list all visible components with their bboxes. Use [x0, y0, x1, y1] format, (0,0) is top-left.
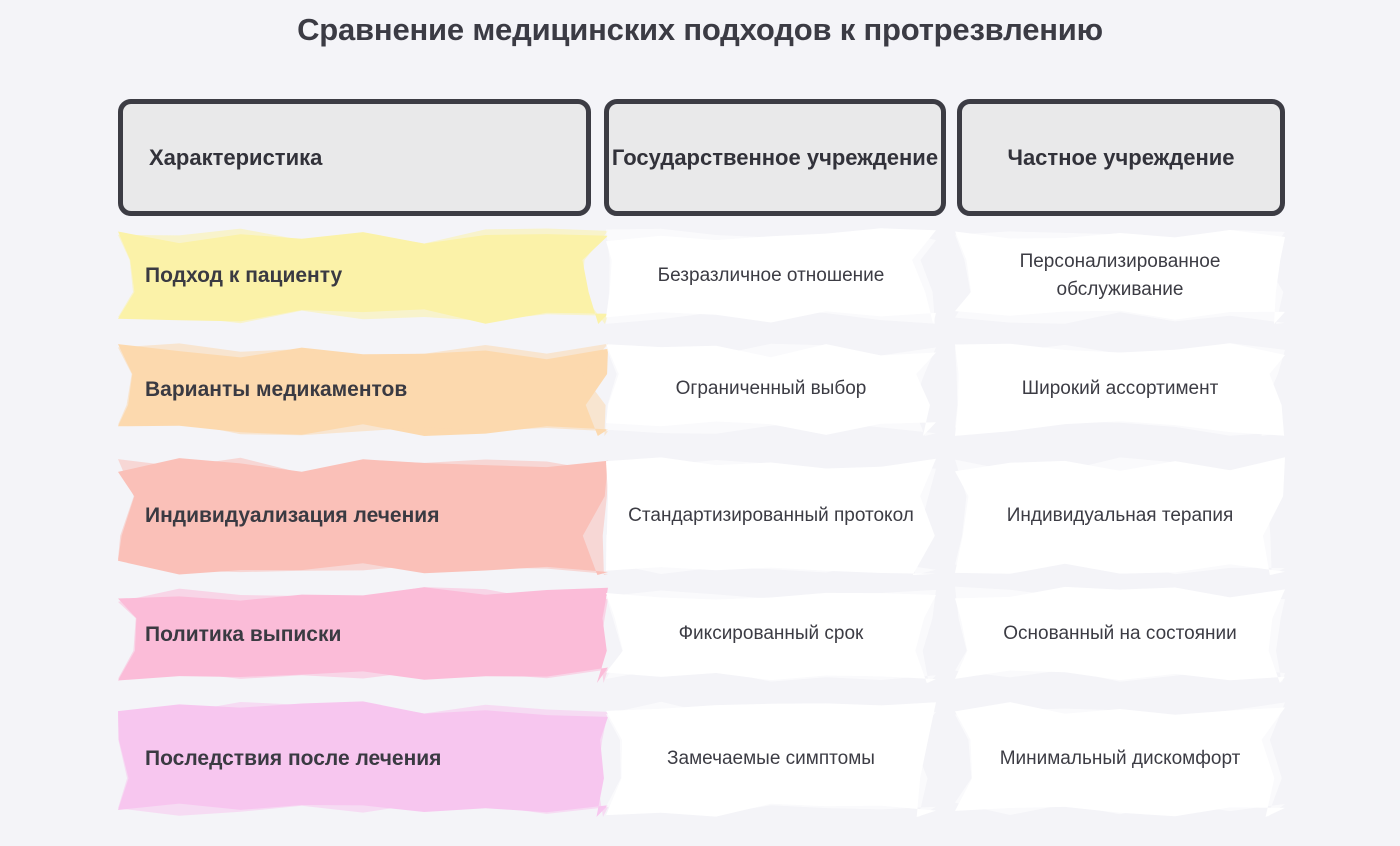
row-feature-label: Индивидуализация лечения: [118, 501, 608, 531]
row-private-value: Основанный на состоянии: [955, 620, 1285, 648]
row-feature-cell: Индивидуализация лечения: [118, 457, 608, 575]
table-row: Подход к пациентуБезразличное отношениеП…: [0, 228, 1400, 324]
row-private-cell: Минимальный дискомфорт: [955, 701, 1285, 817]
row-private-value: Индивидуальная терапия: [955, 502, 1285, 530]
row-feature-cell: Политика выписки: [118, 586, 608, 683]
row-public-cell: Безразличное отношение: [606, 228, 936, 324]
row-public-value: Фиксированный срок: [606, 620, 936, 648]
row-public-cell: Стандартизированный протокол: [606, 457, 936, 575]
row-feature-cell: Подход к пациенту: [118, 228, 608, 324]
row-private-value: Широкий ассортимент: [955, 375, 1285, 403]
row-public-value: Ограниченный выбор: [606, 375, 936, 403]
row-private-cell: Индивидуальная терапия: [955, 457, 1285, 575]
table-row: Варианты медикаментовОграниченный выборШ…: [0, 343, 1400, 436]
row-public-cell: Ограниченный выбор: [606, 343, 936, 436]
column-header-private: Частное учреждение: [957, 99, 1285, 216]
column-header-private-label: Частное учреждение: [1007, 143, 1234, 173]
table-row: Последствия после леченияЗамечаемые симп…: [0, 701, 1400, 817]
row-public-value: Замечаемые симптомы: [606, 745, 936, 773]
row-private-cell: Широкий ассортимент: [955, 343, 1285, 436]
column-header-public: Государственное учреждение: [604, 99, 946, 216]
row-feature-label: Варианты медикаментов: [118, 375, 608, 405]
comparison-table: Характеристика Государственное учреждени…: [0, 0, 1400, 846]
table-row: Индивидуализация леченияСтандартизирован…: [0, 457, 1400, 575]
row-feature-label: Последствия после лечения: [118, 744, 608, 774]
row-feature-cell: Последствия после лечения: [118, 701, 608, 817]
row-feature-label: Политика выписки: [118, 620, 608, 650]
row-private-cell: Основанный на состоянии: [955, 586, 1285, 683]
row-private-value: Минимальный дискомфорт: [955, 745, 1285, 773]
column-header-public-label: Государственное учреждение: [612, 143, 938, 173]
row-feature-label: Подход к пациенту: [118, 261, 608, 291]
row-public-cell: Фиксированный срок: [606, 586, 936, 683]
column-header-feature: Характеристика: [118, 99, 591, 216]
row-public-cell: Замечаемые симптомы: [606, 701, 936, 817]
column-header-feature-label: Характеристика: [149, 143, 322, 173]
row-public-value: Стандартизированный протокол: [606, 502, 936, 530]
row-public-value: Безразличное отношение: [606, 262, 936, 290]
row-feature-cell: Варианты медикаментов: [118, 343, 608, 436]
row-private-value: Персонализированное обслуживание: [955, 248, 1285, 304]
table-row: Политика выпискиФиксированный срокОснова…: [0, 586, 1400, 683]
row-private-cell: Персонализированное обслуживание: [955, 228, 1285, 324]
